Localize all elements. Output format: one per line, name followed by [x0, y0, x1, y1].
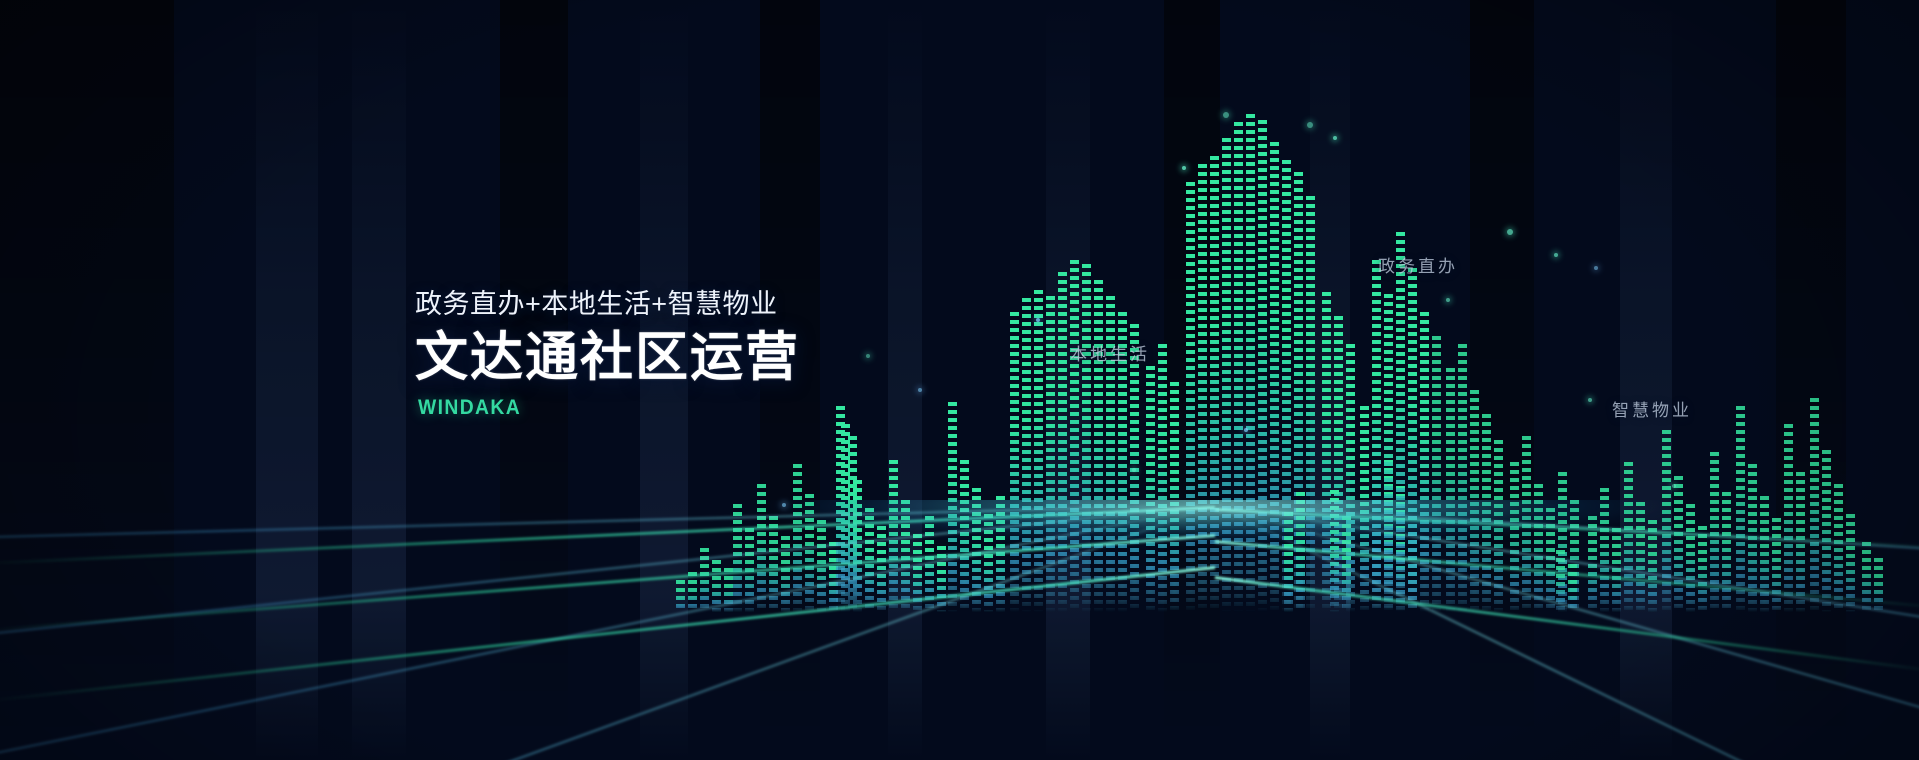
sparkle-dot: [1223, 112, 1229, 118]
sparkle-dot: [1588, 398, 1592, 402]
sparkle-dot: [1307, 122, 1313, 128]
sparkle-dot: [918, 388, 922, 392]
horizon-glow: [0, 500, 1919, 548]
pillar-label: 政务直办: [1378, 252, 1458, 277]
pillar-label: 本地生活: [1070, 340, 1150, 365]
banner-subtitle: 政务直办+本地生活+智慧物业: [415, 288, 800, 322]
banner-title: 文达通社区运营: [415, 329, 800, 386]
sparkle-dot: [866, 354, 870, 358]
sparkle-dot: [1036, 318, 1040, 322]
hero-banner: 政务直办本地生活智慧物业 政务直办+本地生活+智慧物业 文达通社区运营 WIND…: [0, 0, 1919, 760]
sparkle-dot: [1132, 468, 1136, 472]
headline-copy-block: 政务直办+本地生活+智慧物业 文达通社区运营 WINDAKA: [415, 288, 800, 420]
sparkle-dot: [1594, 266, 1598, 270]
sparkle-dot: [1446, 298, 1450, 302]
sparkle-dot: [1182, 166, 1186, 170]
brand-wordmark: WINDAKA: [418, 396, 769, 420]
perspective-floor: [0, 500, 1919, 760]
sparkle-dot: [1672, 484, 1676, 488]
sparkle-dot: [1333, 136, 1337, 140]
sparkle-dot: [1507, 229, 1513, 235]
sparkle-dot: [1244, 428, 1248, 432]
pillar-label: 智慧物业: [1612, 396, 1692, 421]
sparkle-dot: [1554, 253, 1558, 257]
